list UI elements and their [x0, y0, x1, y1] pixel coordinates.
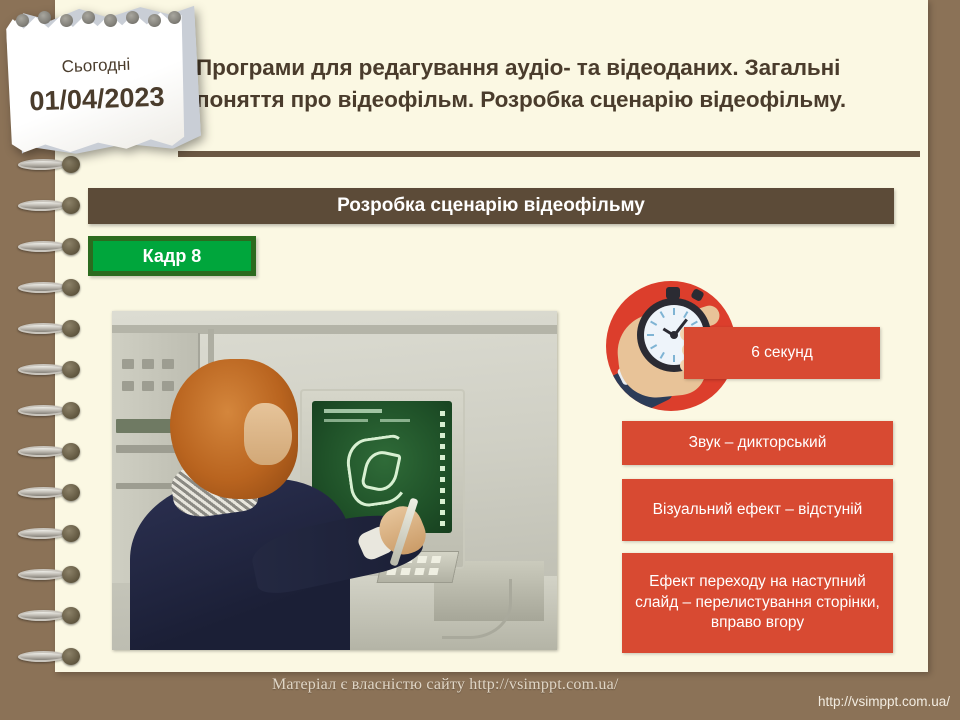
notepad-perforation [82, 11, 95, 24]
spiral-ring [18, 484, 80, 501]
title-divider [178, 151, 920, 157]
spiral-ring [18, 402, 80, 419]
slide-canvas: Програми для редагування аудіо- та відео… [0, 0, 960, 720]
info-box-visual-effect: Візуальний ефект – відстуній [622, 479, 893, 541]
notepad-perforation [148, 14, 161, 27]
notepad-date: 01/04/2023 [4, 81, 191, 118]
section-header: Розробка сценарію відеофільму [88, 188, 894, 224]
footer-url[interactable]: http://vsimppt.com.ua/ [818, 694, 950, 709]
spiral-ring [18, 197, 80, 214]
info-box-sound: Звук – дикторський [622, 421, 893, 465]
spiral-ring [18, 156, 80, 173]
spiral-binding [0, 150, 86, 690]
notepad-perforation [104, 14, 117, 27]
spiral-ring [18, 238, 80, 255]
notepad-perforation [38, 11, 51, 24]
spiral-ring [18, 443, 80, 460]
notepad-perforation [16, 14, 29, 27]
storyboard-photo [112, 311, 557, 650]
notepad-perforation [60, 14, 73, 27]
stopwatch-hub [670, 331, 678, 339]
spiral-ring [18, 607, 80, 624]
spiral-ring [18, 361, 80, 378]
notepad-perforation [126, 11, 139, 24]
notepad-perforation [168, 11, 181, 24]
photo-screen-dotted-column [440, 411, 445, 526]
date-notepad: Сьогодні 01/04/2023 [8, 4, 190, 156]
spiral-ring [18, 320, 80, 337]
photo-person-face [244, 403, 292, 465]
photo-screen-text-line [324, 419, 368, 422]
info-box-transition-effect: Ефект переходу на наступний слайд – пере… [622, 553, 893, 653]
spiral-ring [18, 279, 80, 296]
spiral-ring [18, 525, 80, 542]
stopwatch-button [690, 288, 704, 302]
photo-screen-text-line [324, 409, 382, 413]
frame-number-badge[interactable]: Кадр 8 [88, 236, 256, 276]
spiral-ring [18, 648, 80, 665]
stopwatch-crown [666, 287, 680, 299]
spiral-ring [18, 566, 80, 583]
page-title: Програми для редагування аудіо- та відео… [196, 52, 922, 116]
footer-ownership-note: Матеріал є власністю сайту http://vsimpp… [272, 676, 619, 694]
photo-screen-text-line [380, 419, 410, 422]
info-box-duration: 6 секунд [684, 327, 880, 379]
